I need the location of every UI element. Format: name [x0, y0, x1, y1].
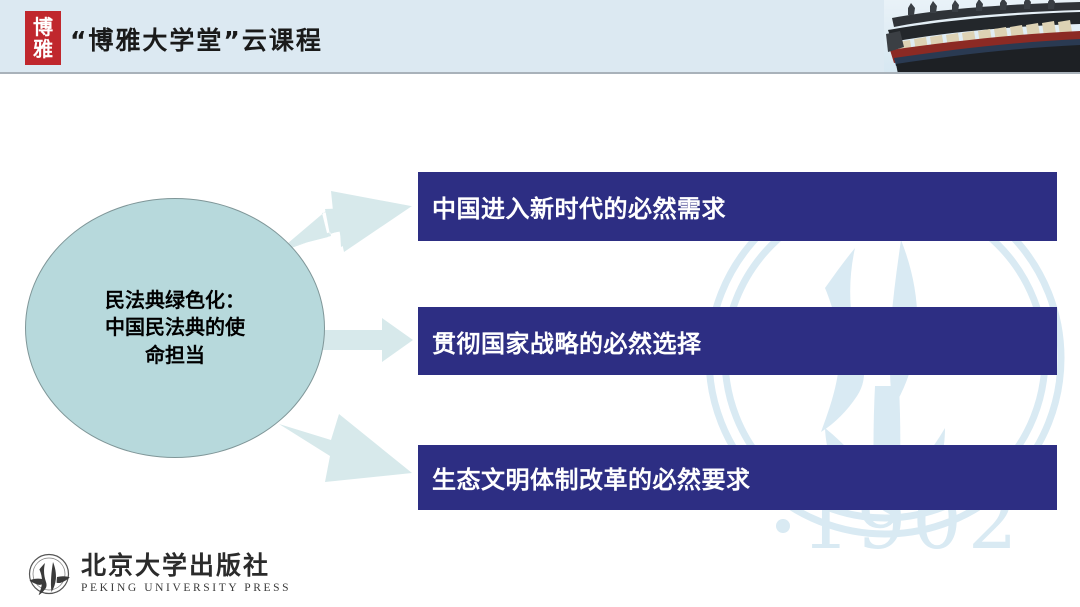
diagram-box-1[interactable]: 中国进入新时代的必然需求 — [418, 172, 1057, 241]
publisher-name-en: PEKING UNIVERSITY PRESS — [81, 583, 291, 595]
footer-publisher: 北京大学出版社 PEKING UNIVERSITY PRESS — [28, 548, 291, 600]
center-node-circle[interactable]: 民法典绿色化： 中国民法典的使 命担当 — [25, 198, 325, 458]
diagram-box-3[interactable]: 生态文明体制改革的必然要求 — [418, 445, 1057, 510]
block-arrow-down-right-icon — [279, 414, 412, 482]
center-node-label: 民法典绿色化： 中国民法典的使 命担当 — [77, 287, 273, 370]
center-node-line-2: 中国民法典的使 — [105, 314, 245, 342]
peking-university-seal-icon — [28, 553, 70, 595]
boya-logo-char-2: 雅 — [33, 39, 53, 59]
block-arrow-right-icon — [311, 318, 413, 362]
center-node-line-1: 民法典绿色化： — [105, 287, 245, 315]
center-node-line-3: 命担当 — [105, 342, 245, 370]
chinese-roof-eaves-photo — [884, 0, 1080, 74]
boya-seal-icon: 博 雅 — [25, 11, 61, 65]
diagram-box-3-label: 生态文明体制改革的必然要求 — [432, 460, 751, 495]
diagram-box-1-label: 中国进入新时代的必然需求 — [432, 189, 726, 224]
header-title: “博雅大学堂”云课程 — [70, 21, 323, 57]
block-arrow-up-right-icon — [279, 191, 412, 252]
slide-header: 博 雅 “博雅大学堂”云课程 — [0, 0, 1080, 74]
publisher-name-cn: 北京大学出版社 — [81, 553, 291, 578]
diagram-box-2-label: 贯彻国家战略的必然选择 — [432, 324, 702, 359]
boya-logo-char-1: 博 — [33, 17, 53, 37]
diagram-box-2[interactable]: 贯彻国家战略的必然选择 — [418, 307, 1057, 375]
